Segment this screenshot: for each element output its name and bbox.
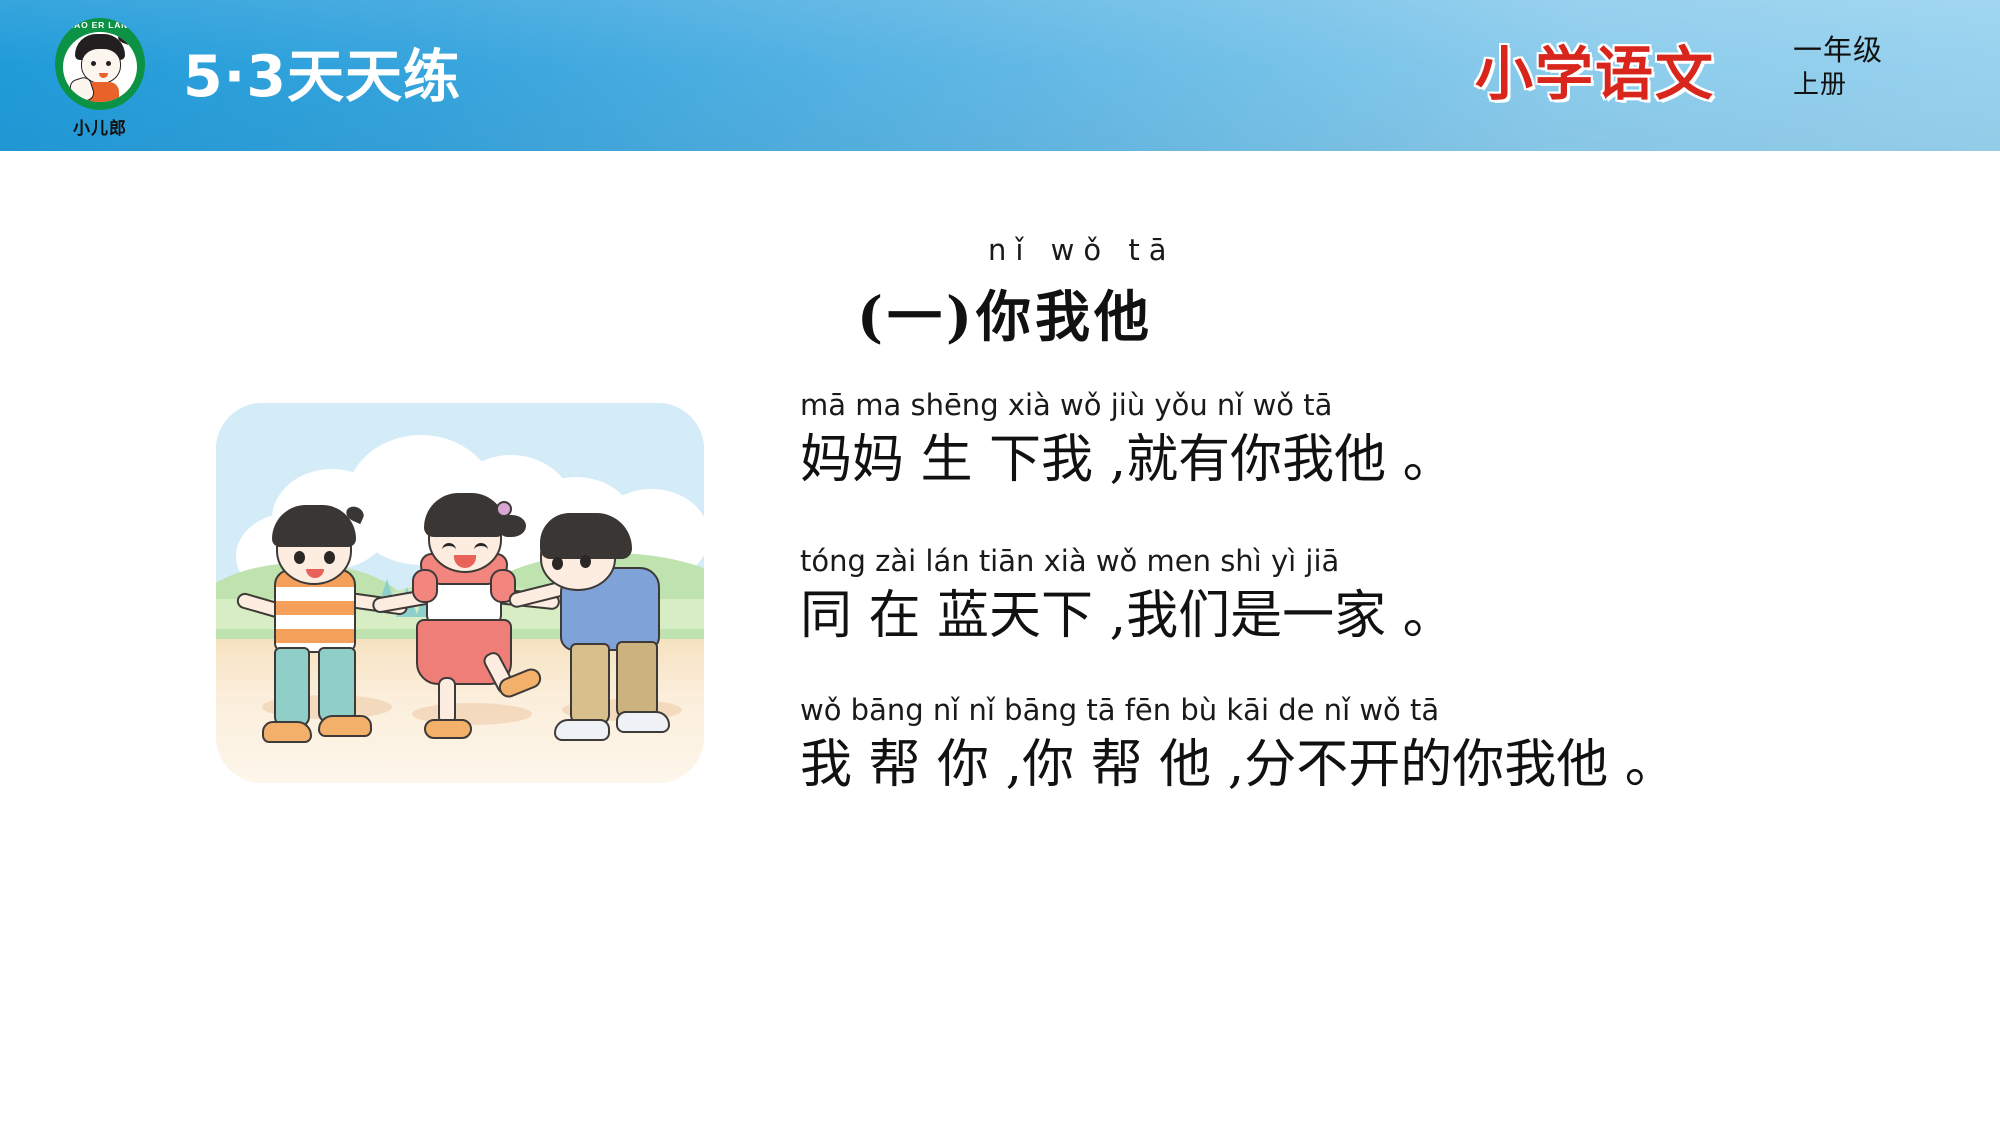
lesson-title-hanzi: 你我他 bbox=[976, 284, 1153, 349]
verse-line: tóng zài lán tiān xià wǒ men shì yì jiā … bbox=[800, 543, 1980, 649]
verse-hanzi: 我 帮 你 ,你 帮 他 ,分不开的你我他 。 bbox=[800, 732, 1980, 798]
verse-line: mā ma shēng xià wǒ jiù yǒu nǐ wǒ tā 妈妈 生… bbox=[800, 387, 1980, 493]
verse-pinyin: wǒ bāng nǐ nǐ bāng tā fēn bù kāi de nǐ w… bbox=[800, 692, 1980, 728]
verse-hanzi: 同 在 蓝天下 ,我们是一家 。 bbox=[800, 583, 1980, 649]
lesson-text: nǐ wǒ tā (一)你我他 mā ma shēng xià wǒ jiù y… bbox=[0, 0, 2000, 1125]
lesson-title-pinyin: nǐ wǒ tā bbox=[988, 233, 1175, 267]
verse-pinyin: mā ma shēng xià wǒ jiù yǒu nǐ wǒ tā bbox=[800, 387, 1980, 423]
verse-hanzi: 妈妈 生 下我 ,就有你我他 。 bbox=[800, 427, 1980, 493]
verse-line: wǒ bāng nǐ nǐ bāng tā fēn bù kāi de nǐ w… bbox=[800, 692, 1980, 798]
lesson-number: (一) bbox=[857, 284, 976, 349]
verse-pinyin: tóng zài lán tiān xià wǒ men shì yì jiā bbox=[800, 543, 1980, 579]
lesson-title: (一)你我他 bbox=[857, 272, 1153, 352]
